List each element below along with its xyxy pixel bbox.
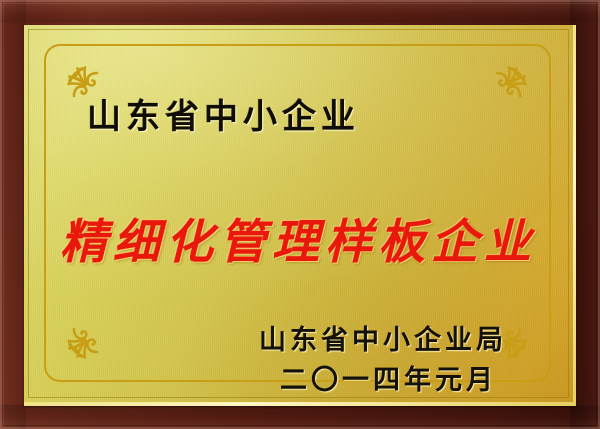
inner-border-corner-bottom-left — [44, 346, 80, 382]
flourish-ornament-top-right-icon — [476, 55, 538, 117]
ornamental-inner-border — [44, 44, 551, 382]
inner-border-corner-top-left — [44, 44, 80, 80]
plaque-issuer: 山东省中小企业局 — [259, 318, 507, 357]
flourish-ornament-bottom-left-icon — [56, 308, 118, 370]
inner-border-right-line — [549, 78, 551, 348]
gold-plate: 山东省中小企业 精细化管理样板企业 山东省中小企业局 二〇一四年元月 — [24, 25, 573, 402]
gold-plate-brushed-texture — [24, 25, 573, 402]
award-plaque: 山东省中小企业 精细化管理样板企业 山东省中小企业局 二〇一四年元月 — [0, 0, 600, 429]
inner-border-corner-top-right — [515, 44, 551, 80]
gold-plate-assembly: 山东省中小企业 精细化管理样板企业 山东省中小企业局 二〇一四年元月 — [24, 25, 576, 406]
gold-plate-sheen — [24, 25, 573, 402]
inner-border-bottom-line — [78, 380, 517, 382]
flourish-ornament-bottom-right-icon — [476, 308, 538, 370]
frame-bottom-sheen — [0, 405, 600, 429]
flourish-ornament-top-left-icon — [56, 55, 118, 117]
inner-border-top-line — [78, 44, 517, 46]
plaque-issue-date: 二〇一四年元月 — [280, 358, 497, 397]
inner-border-left-line — [44, 78, 46, 348]
frame-left-sheen — [0, 0, 26, 429]
inner-border-corner-bottom-right — [515, 346, 551, 382]
plaque-text-layer: 山东省中小企业 精细化管理样板企业 山东省中小企业局 二〇一四年元月 — [24, 25, 573, 402]
frame-top-sheen — [0, 0, 600, 22]
plaque-award-title: 精细化管理样板企业 — [24, 203, 573, 272]
plaque-title-top: 山东省中小企业 — [87, 89, 360, 138]
gold-plate-hairline-border — [28, 29, 569, 398]
